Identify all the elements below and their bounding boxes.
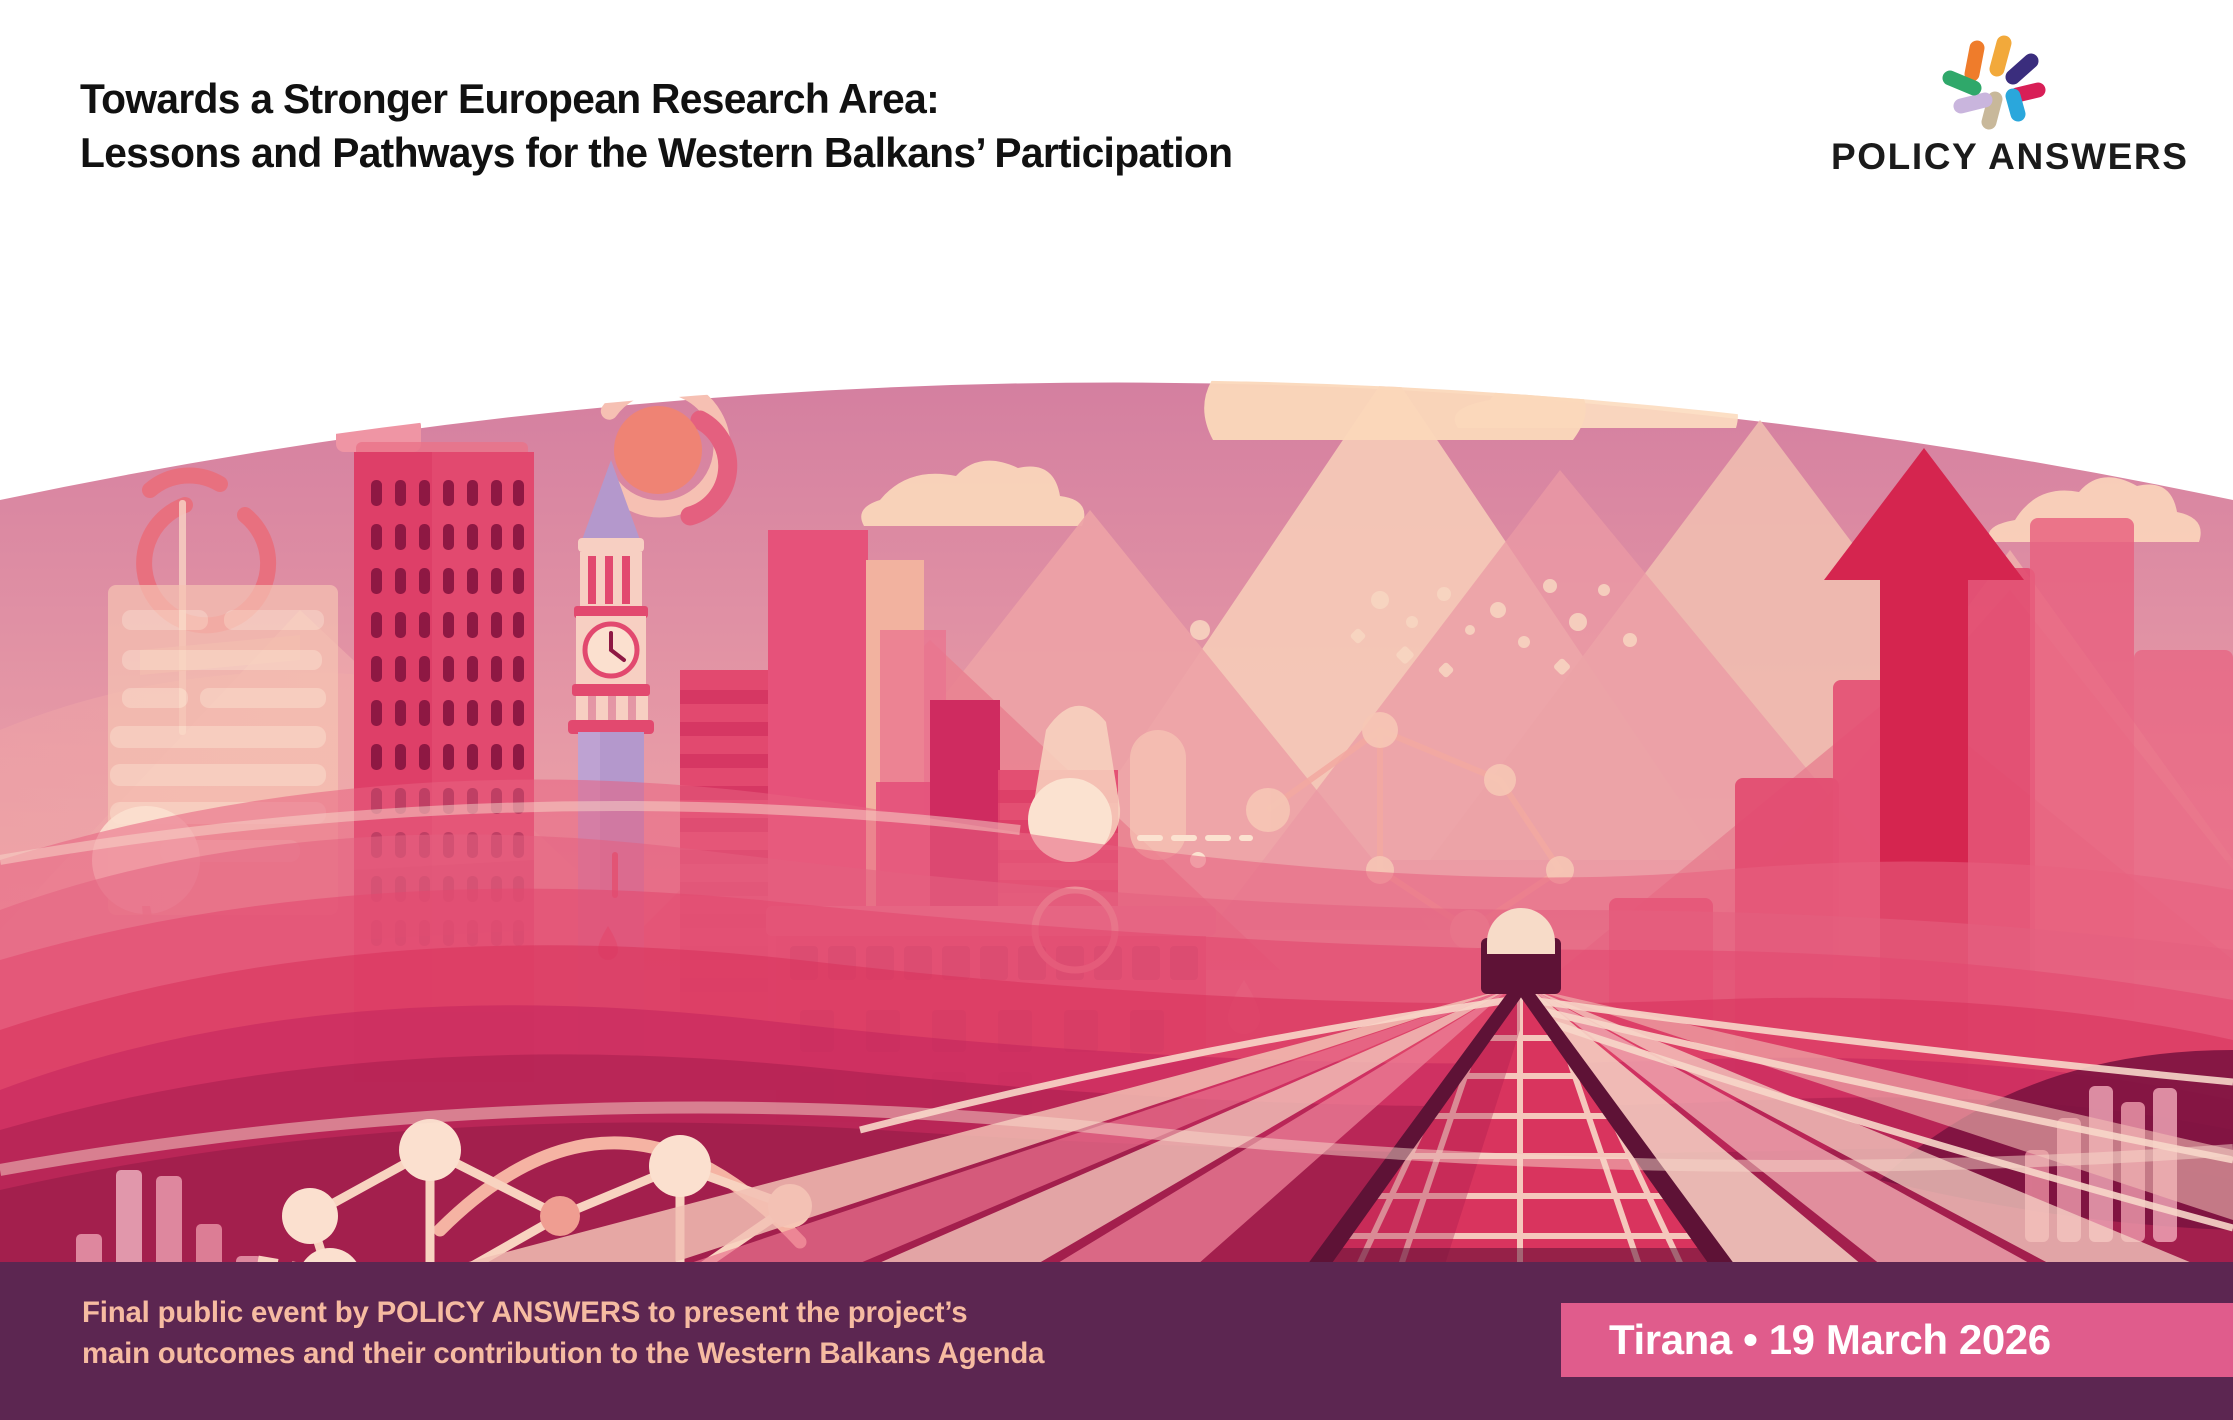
policy-answers-logo: POLICY ANSWERS [1831, 26, 2171, 196]
event-date-badge: Tirana • 19 March 2026 [1561, 1303, 2233, 1377]
event-date-text: Tirana • 19 March 2026 [1609, 1316, 2051, 1364]
policy-answers-burst-icon [1941, 28, 2061, 143]
footer-description: Final public event by POLICY ANSWERS to … [82, 1292, 1502, 1375]
tirana-cityscape-illustration [0, 170, 2233, 1280]
footer-line-2: main outcomes and their contribution to … [82, 1333, 1474, 1374]
page-title: Towards a Stronger European Research Are… [80, 72, 1780, 180]
title-line-1: Towards a Stronger European Research Are… [80, 72, 1729, 126]
event-poster: Towards a Stronger European Research Are… [0, 0, 2233, 1420]
poster-header: Towards a Stronger European Research Are… [0, 0, 2233, 250]
footer-line-1: Final public event by POLICY ANSWERS to … [82, 1292, 1474, 1333]
logo-wordmark: POLICY ANSWERS [1831, 136, 2171, 178]
poster-footer: Final public event by POLICY ANSWERS to … [0, 1262, 2233, 1420]
title-line-2: Lessons and Pathways for the Western Bal… [80, 126, 1729, 180]
